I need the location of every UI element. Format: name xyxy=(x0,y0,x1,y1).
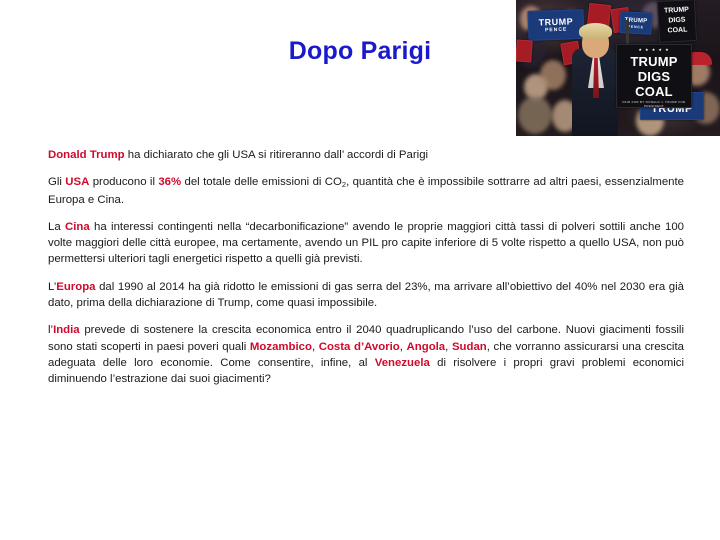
highlighted-term: Mozambico xyxy=(250,341,312,353)
body-run: ha interessi contingenti nella “decarbon… xyxy=(48,221,684,266)
body-run: dal 1990 al 2014 ha già ridotto le emiss… xyxy=(48,281,684,309)
sign-digs-small-line1: TRUMP xyxy=(658,6,694,15)
body-text: Donald Trump ha dichiarato che gli USA s… xyxy=(48,147,684,388)
slide-canvas: Dopo Parigi TRUMP PENCE TRUMP PENCE xyxy=(0,0,720,540)
sign-main-line3: COAL xyxy=(617,85,691,98)
sign-main-line2: DIGS xyxy=(617,70,691,83)
sign-trump-pence: TRUMP PENCE xyxy=(527,9,584,41)
highlighted-term: USA xyxy=(65,176,89,188)
body-run: del totale delle emissioni di CO xyxy=(181,176,342,188)
p-usa: Gli USA producono il 36% del totale dell… xyxy=(48,174,684,208)
p-trump: Donald Trump ha dichiarato che gli USA s… xyxy=(48,147,684,163)
sign-red-small xyxy=(516,39,533,62)
highlighted-term: Costa d’Avorio xyxy=(319,341,400,353)
sign-main-fine-print: PAID FOR BY DONALD J. TRUMP FOR PRESIDEN… xyxy=(617,100,691,108)
subscript-text: 2 xyxy=(342,180,346,189)
highlighted-term: Angola xyxy=(407,341,446,353)
highlighted-term: Venezuela xyxy=(375,357,430,369)
highlighted-term: India xyxy=(53,324,80,336)
crowd-blob xyxy=(518,96,552,134)
rally-photo: TRUMP PENCE TRUMP PENCE TRUMP DIGS COAL … xyxy=(516,0,720,136)
body-run: La xyxy=(48,221,65,233)
sign-digs-small-line3: COAL xyxy=(659,26,695,35)
body-run: ha dichiarato che gli USA si ritireranno… xyxy=(125,149,428,161)
sign-main-stars-top: ★ ★ ★ ★ ★ xyxy=(617,48,691,52)
highlighted-term: Sudan xyxy=(452,341,487,353)
body-run: , xyxy=(445,341,452,353)
p-cina: La Cina ha interessi contingenti nella “… xyxy=(48,219,684,268)
highlighted-term: Europa xyxy=(56,281,95,293)
sign-trump-pence-line2: PENCE xyxy=(529,27,583,34)
sign-digs-coal-small: TRUMP DIGS COAL xyxy=(657,0,697,43)
sign-trump-pence-secondary: TRUMP PENCE xyxy=(619,11,652,35)
crowd-blob xyxy=(540,60,566,90)
body-run: , xyxy=(400,341,407,353)
highlighted-term: 36% xyxy=(158,176,181,188)
body-run: Gli xyxy=(48,176,65,188)
sign-digs-small-line2: DIGS xyxy=(659,16,695,25)
body-run: , xyxy=(312,341,319,353)
body-run: producono il xyxy=(89,176,158,188)
trump-hair xyxy=(579,23,612,39)
sign-digs-coal-main: ★ ★ ★ ★ ★ TRUMP DIGS COAL PAID FOR BY DO… xyxy=(616,44,692,108)
sign-main-line1: TRUMP xyxy=(617,55,691,68)
highlighted-term: Donald Trump xyxy=(48,149,125,161)
p-india: l’India prevede di sostenere la crescita… xyxy=(48,322,684,387)
body-run: L’ xyxy=(48,281,56,293)
highlighted-term: Cina xyxy=(65,221,90,233)
p-europa: L’Europa dal 1990 al 2014 ha già ridotto… xyxy=(48,279,684,312)
